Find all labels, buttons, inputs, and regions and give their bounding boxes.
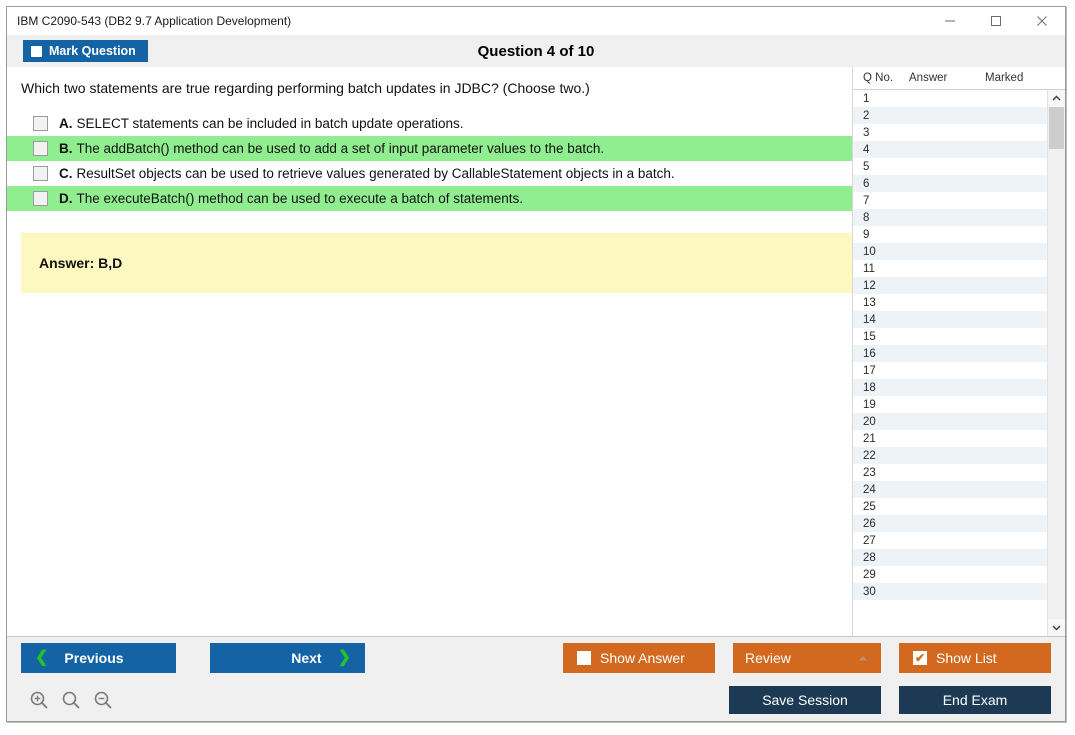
question-number-cell: 18 bbox=[853, 382, 909, 394]
option-d-text: The executeBatch() method can be used to… bbox=[77, 191, 524, 206]
close-icon bbox=[1036, 15, 1048, 27]
chevron-down-icon bbox=[1052, 623, 1061, 632]
scrollbar-thumb[interactable] bbox=[1049, 107, 1064, 149]
title-bar: IBM C2090-543 (DB2 9.7 Application Devel… bbox=[7, 7, 1065, 35]
question-list-row[interactable]: 16 bbox=[853, 345, 1047, 362]
question-list-row[interactable]: 4 bbox=[853, 141, 1047, 158]
question-list-row[interactable]: 13 bbox=[853, 294, 1047, 311]
option-row-a[interactable]: A. SELECT statements can be included in … bbox=[7, 111, 852, 136]
zoom-in-icon[interactable] bbox=[29, 690, 49, 710]
question-list-rows: 1234567891011121314151617181920212223242… bbox=[853, 90, 1047, 636]
maximize-icon bbox=[990, 15, 1002, 27]
option-d-letter: D. bbox=[59, 191, 73, 206]
chevron-left-icon: ❮ bbox=[35, 650, 48, 666]
end-exam-label: End Exam bbox=[943, 692, 1008, 708]
question-number-cell: 19 bbox=[853, 399, 909, 411]
question-list-row[interactable]: 29 bbox=[853, 566, 1047, 583]
question-list-row[interactable]: 2 bbox=[853, 107, 1047, 124]
question-number-cell: 29 bbox=[853, 569, 909, 581]
mark-question-label: Mark Question bbox=[49, 44, 136, 58]
column-header-answer: Answer bbox=[909, 72, 985, 84]
question-list-row[interactable]: 21 bbox=[853, 430, 1047, 447]
question-list-row[interactable]: 11 bbox=[853, 260, 1047, 277]
answer-label: Answer: B,D bbox=[21, 255, 122, 271]
question-list-row[interactable]: 1 bbox=[853, 90, 1047, 107]
question-number-cell: 23 bbox=[853, 467, 909, 479]
question-list-row[interactable]: 27 bbox=[853, 532, 1047, 549]
show-list-label: Show List bbox=[936, 650, 997, 666]
zoom-out-icon[interactable] bbox=[93, 690, 113, 710]
next-button[interactable]: Next ❯ bbox=[210, 643, 365, 673]
option-a-letter: A. bbox=[59, 116, 73, 131]
zoom-controls bbox=[29, 690, 113, 710]
question-list-scrollbar[interactable] bbox=[1047, 90, 1065, 636]
question-list-row[interactable]: 28 bbox=[853, 549, 1047, 566]
previous-label: Previous bbox=[64, 650, 123, 666]
footer: ❮ Previous Next ❯ Show Answer Review bbox=[7, 636, 1065, 721]
window-controls bbox=[927, 7, 1065, 35]
question-number-cell: 5 bbox=[853, 161, 909, 173]
question-list-row[interactable]: 24 bbox=[853, 481, 1047, 498]
option-c-checkbox-icon[interactable] bbox=[33, 166, 48, 181]
question-number-cell: 22 bbox=[853, 450, 909, 462]
question-list-row[interactable]: 7 bbox=[853, 192, 1047, 209]
option-row-b[interactable]: B. The addBatch() method can be used to … bbox=[7, 136, 852, 161]
show-answer-checkbox-icon[interactable] bbox=[577, 651, 591, 665]
question-list-row[interactable]: 12 bbox=[853, 277, 1047, 294]
question-counter: Question 4 of 10 bbox=[7, 43, 1065, 60]
close-button[interactable] bbox=[1019, 7, 1065, 35]
show-list-checkbox-icon[interactable]: ✔ bbox=[913, 651, 927, 665]
footer-session-group: Save Session End Exam bbox=[729, 686, 1051, 714]
question-list-row[interactable]: 8 bbox=[853, 209, 1047, 226]
question-list-row[interactable]: 19 bbox=[853, 396, 1047, 413]
question-number-cell: 4 bbox=[853, 144, 909, 156]
option-a-checkbox-icon[interactable] bbox=[33, 116, 48, 131]
end-exam-button[interactable]: End Exam bbox=[899, 686, 1051, 714]
question-number-cell: 25 bbox=[853, 501, 909, 513]
scroll-down-button[interactable] bbox=[1048, 619, 1065, 636]
question-pane: Which two statements are true regarding … bbox=[7, 67, 852, 636]
review-label: Review bbox=[745, 650, 791, 666]
minimize-button[interactable] bbox=[927, 7, 973, 35]
option-row-c[interactable]: C. ResultSet objects can be used to retr… bbox=[7, 161, 852, 186]
show-answer-button[interactable]: Show Answer bbox=[563, 643, 715, 673]
question-number-cell: 12 bbox=[853, 280, 909, 292]
question-number-cell: 3 bbox=[853, 127, 909, 139]
previous-button[interactable]: ❮ Previous bbox=[21, 643, 176, 673]
show-list-button[interactable]: ✔ Show List bbox=[899, 643, 1051, 673]
question-list-row[interactable]: 17 bbox=[853, 362, 1047, 379]
question-number-cell: 28 bbox=[853, 552, 909, 564]
option-b-text: The addBatch() method can be used to add… bbox=[77, 141, 605, 156]
option-d-checkbox-icon[interactable] bbox=[33, 191, 48, 206]
chevron-up-icon bbox=[857, 654, 869, 662]
option-c-text: ResultSet objects can be used to retriev… bbox=[77, 166, 675, 181]
zoom-reset-icon[interactable] bbox=[61, 690, 81, 710]
next-label: Next bbox=[291, 650, 321, 666]
question-number-cell: 1 bbox=[853, 93, 909, 105]
question-list-row[interactable]: 6 bbox=[853, 175, 1047, 192]
options-list: A. SELECT statements can be included in … bbox=[7, 111, 852, 211]
question-list-row[interactable]: 18 bbox=[853, 379, 1047, 396]
question-list-row[interactable]: 9 bbox=[853, 226, 1047, 243]
question-list-row[interactable]: 5 bbox=[853, 158, 1047, 175]
mark-question-checkbox-icon[interactable] bbox=[31, 46, 42, 57]
question-number-cell: 16 bbox=[853, 348, 909, 360]
question-number-cell: 11 bbox=[853, 263, 909, 275]
question-number-cell: 14 bbox=[853, 314, 909, 326]
chevron-right-icon: ❯ bbox=[338, 650, 351, 666]
question-number-cell: 17 bbox=[853, 365, 909, 377]
question-number-cell: 20 bbox=[853, 416, 909, 428]
save-session-label: Save Session bbox=[762, 692, 848, 708]
option-row-d[interactable]: D. The executeBatch() method can be used… bbox=[7, 186, 852, 211]
option-a-text: SELECT statements can be included in bat… bbox=[77, 116, 464, 131]
review-dropdown[interactable]: Review bbox=[733, 643, 881, 673]
question-list-body: 1234567891011121314151617181920212223242… bbox=[853, 90, 1065, 636]
question-number-cell: 13 bbox=[853, 297, 909, 309]
toolbar: Mark Question Question 4 of 10 bbox=[7, 35, 1065, 67]
column-header-qno: Q No. bbox=[853, 72, 909, 84]
maximize-button[interactable] bbox=[973, 7, 1019, 35]
minimize-icon bbox=[944, 15, 956, 27]
question-list-row[interactable]: 25 bbox=[853, 498, 1047, 515]
question-number-cell: 27 bbox=[853, 535, 909, 547]
question-list-row[interactable]: 20 bbox=[853, 413, 1047, 430]
footer-toggle-group: Show Answer Review ✔ Show List bbox=[563, 643, 1051, 673]
question-number-cell: 7 bbox=[853, 195, 909, 207]
question-list-header: Q No. Answer Marked bbox=[853, 67, 1065, 90]
question-number-cell: 2 bbox=[853, 110, 909, 122]
footer-row-secondary: Save Session End Exam bbox=[7, 679, 1065, 721]
question-number-cell: 21 bbox=[853, 433, 909, 445]
content-area: Which two statements are true regarding … bbox=[7, 67, 1065, 636]
question-number-cell: 8 bbox=[853, 212, 909, 224]
question-list-row[interactable]: 22 bbox=[853, 447, 1047, 464]
show-answer-label: Show Answer bbox=[600, 650, 685, 666]
exam-window: IBM C2090-543 (DB2 9.7 Application Devel… bbox=[6, 6, 1066, 722]
option-b-letter: B. bbox=[59, 141, 73, 156]
question-list-row[interactable]: 3 bbox=[853, 124, 1047, 141]
question-list-row[interactable]: 23 bbox=[853, 464, 1047, 481]
question-text: Which two statements are true regarding … bbox=[7, 67, 852, 97]
check-icon: ✔ bbox=[915, 652, 925, 664]
question-list-row[interactable]: 26 bbox=[853, 515, 1047, 532]
question-number-cell: 15 bbox=[853, 331, 909, 343]
footer-row-primary: ❮ Previous Next ❯ Show Answer Review bbox=[7, 637, 1065, 679]
scroll-up-button[interactable] bbox=[1048, 90, 1065, 107]
option-b-checkbox-icon[interactable] bbox=[33, 141, 48, 156]
question-number-cell: 26 bbox=[853, 518, 909, 530]
window-title: IBM C2090-543 (DB2 9.7 Application Devel… bbox=[7, 14, 291, 28]
mark-question-button[interactable]: Mark Question bbox=[23, 40, 148, 62]
save-session-button[interactable]: Save Session bbox=[729, 686, 881, 714]
question-list-row[interactable]: 14 bbox=[853, 311, 1047, 328]
chevron-up-icon bbox=[1052, 94, 1061, 103]
question-number-cell: 9 bbox=[853, 229, 909, 241]
option-c-letter: C. bbox=[59, 166, 73, 181]
question-list-panel: Q No. Answer Marked 12345678910111213141… bbox=[852, 67, 1065, 636]
question-list-row[interactable]: 15 bbox=[853, 328, 1047, 345]
column-header-marked: Marked bbox=[985, 72, 1065, 84]
question-number-cell: 6 bbox=[853, 178, 909, 190]
answer-panel: Answer: B,D bbox=[21, 233, 852, 293]
question-number-cell: 10 bbox=[853, 246, 909, 258]
question-number-cell: 30 bbox=[853, 586, 909, 598]
question-number-cell: 24 bbox=[853, 484, 909, 496]
question-list-row[interactable]: 30 bbox=[853, 583, 1047, 600]
question-list-row[interactable]: 10 bbox=[853, 243, 1047, 260]
